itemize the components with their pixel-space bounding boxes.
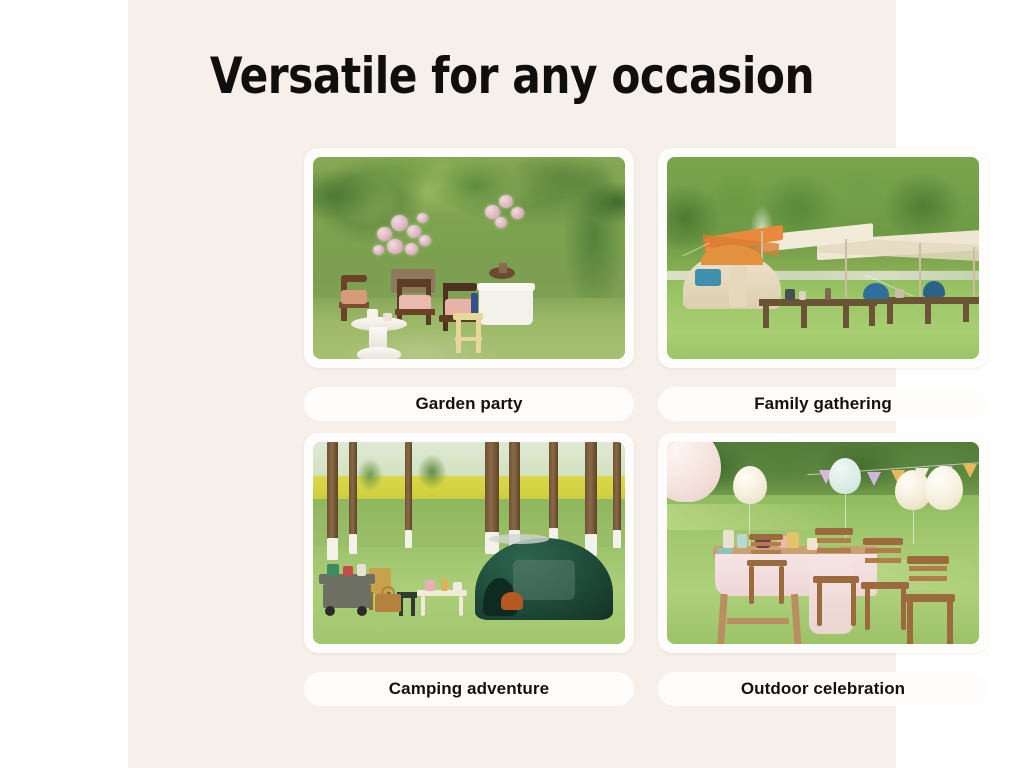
photo-camping-adventure xyxy=(313,442,625,644)
caption-text: Outdoor celebration xyxy=(715,672,931,706)
photo-card-camping-adventure[interactable] xyxy=(304,433,634,653)
photo-garden-party xyxy=(313,157,625,359)
caption-text: Camping adventure xyxy=(363,672,575,706)
photo-outdoor-celebration xyxy=(667,442,979,644)
caption-garden-party: Garden party xyxy=(304,387,634,421)
infographic-canvas: Versatile for any occasion xyxy=(0,0,1024,768)
photo-card-family-gathering[interactable] xyxy=(658,148,988,368)
caption-camping-adventure: Camping adventure xyxy=(304,672,634,706)
caption-outdoor-celebration: Outdoor celebration xyxy=(658,672,988,706)
caption-text: Garden party xyxy=(389,387,548,421)
caption-family-gathering: Family gathering xyxy=(658,387,988,421)
photo-family-gathering xyxy=(667,157,979,359)
photo-card-garden-party[interactable] xyxy=(304,148,634,368)
content-panel: Versatile for any occasion xyxy=(128,0,896,768)
caption-text: Family gathering xyxy=(728,387,918,421)
page-title: Versatile for any occasion xyxy=(151,48,873,104)
photo-card-outdoor-celebration[interactable] xyxy=(658,433,988,653)
